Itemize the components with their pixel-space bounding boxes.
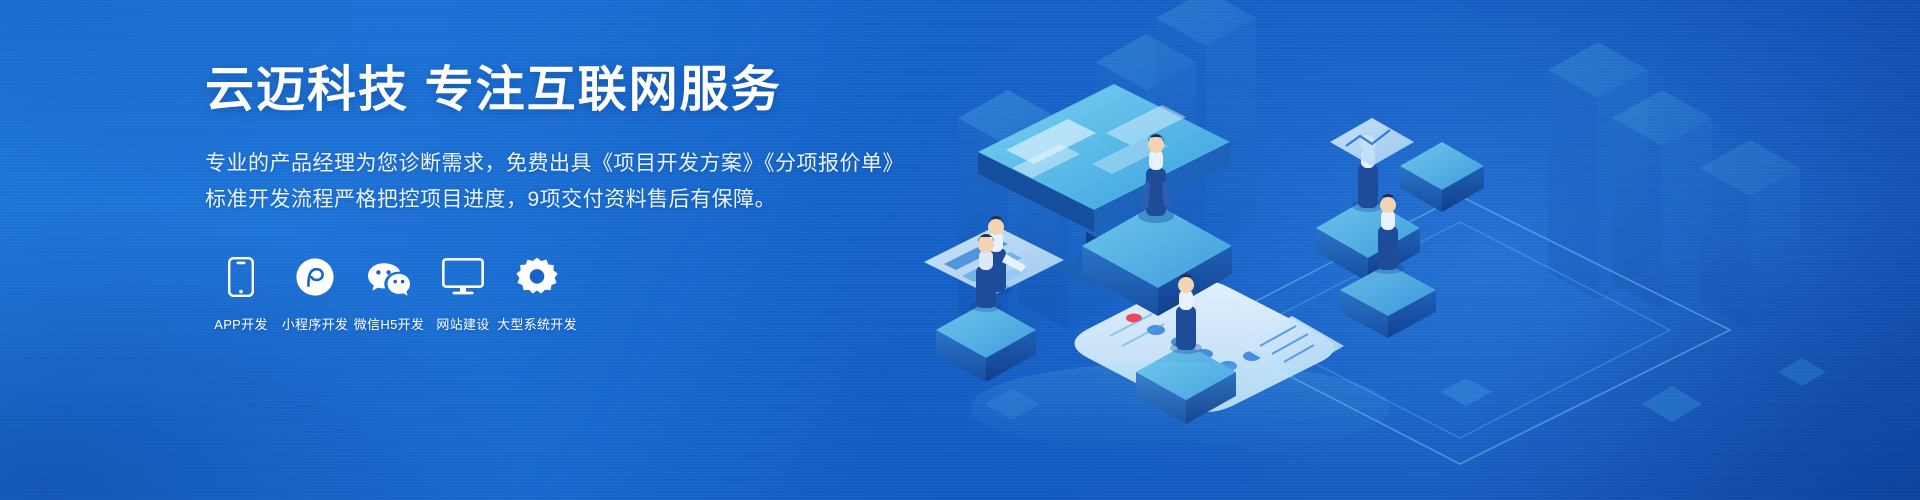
service-list: APP开发 小程序开发 bbox=[205, 256, 965, 333]
monitor-icon bbox=[442, 256, 484, 298]
service-label-wechat-h5: 微信H5开发 bbox=[354, 314, 424, 333]
service-item-app[interactable]: APP开发 bbox=[205, 256, 277, 333]
subtitle-line-1: 专业的产品经理为您诊断需求，免费出具《项目开发方案》《分项报价单》 bbox=[205, 146, 965, 182]
gear-icon bbox=[516, 256, 558, 298]
hero-banner: 云迈科技 专注互联网服务 专业的产品经理为您诊断需求，免费出具《项目开发方案》《… bbox=[0, 0, 1920, 500]
card-chart-right bbox=[1330, 118, 1414, 166]
banner-subtitle: 专业的产品经理为您诊断需求，免费出具《项目开发方案》《分项报价单》 标准开发流程… bbox=[205, 146, 965, 218]
service-label-website: 网站建设 bbox=[436, 314, 489, 333]
isometric-illustration bbox=[900, 0, 1920, 500]
service-item-website[interactable]: 网站建设 bbox=[427, 256, 499, 333]
service-item-wechat-h5[interactable]: 微信H5开发 bbox=[353, 256, 425, 333]
service-item-large-system[interactable]: 大型系统开发 bbox=[501, 256, 573, 333]
mini-program-icon bbox=[295, 256, 335, 298]
mobile-phone-icon bbox=[228, 256, 254, 298]
subtitle-line-2: 标准开发流程严格把控项目进度，9项交付资料售后有保障。 bbox=[205, 182, 965, 218]
service-label-large-system: 大型系统开发 bbox=[497, 314, 577, 333]
page-title: 云迈科技 专注互联网服务 bbox=[205, 62, 965, 120]
service-label-mini-program: 小程序开发 bbox=[282, 314, 349, 333]
banner-copy: 云迈科技 专注互联网服务 专业的产品经理为您诊断需求，免费出具《项目开发方案》《… bbox=[205, 62, 965, 333]
wechat-icon bbox=[366, 256, 412, 298]
service-label-app: APP开发 bbox=[214, 314, 268, 333]
service-item-mini-program[interactable]: 小程序开发 bbox=[279, 256, 351, 333]
